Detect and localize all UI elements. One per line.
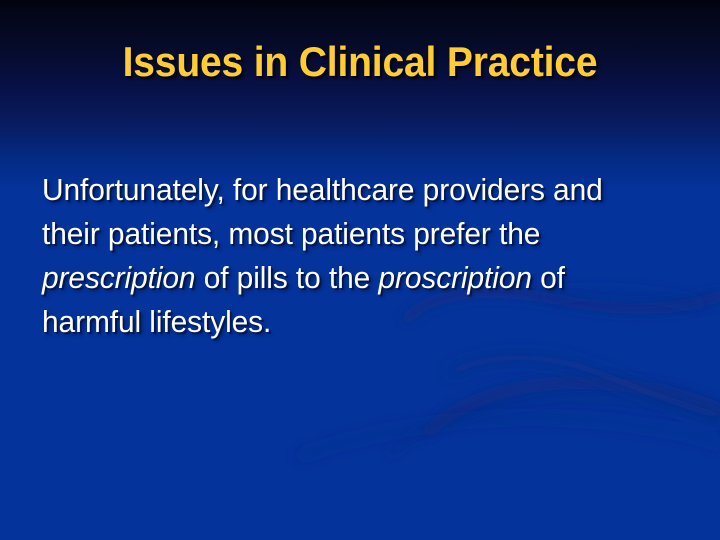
body-text-run: their patients, most patients prefer the [42, 216, 540, 251]
body-line-1: Unfortunately, for healthcare providers … [42, 168, 660, 212]
body-line-3: prescription of pills to the proscriptio… [42, 256, 660, 300]
emphasis-term: prescription [42, 260, 195, 295]
body-line-2: their patients, most patients prefer the [42, 212, 660, 256]
body-text-run: Unfortunately, for healthcare providers … [42, 172, 603, 207]
slide-body-text: Unfortunately, for healthcare providers … [42, 168, 682, 344]
body-text-run: of pills to the [195, 260, 378, 295]
emphasis-term: proscription [378, 260, 531, 295]
body-text-run: harmful lifestyles. [42, 304, 271, 339]
body-text-run: of [532, 260, 565, 295]
presentation-slide: Issues in Clinical Practice Unfortunatel… [0, 0, 720, 540]
slide-title: Issues in Clinical Practice [25, 38, 695, 86]
body-line-4: harmful lifestyles. [42, 300, 660, 344]
